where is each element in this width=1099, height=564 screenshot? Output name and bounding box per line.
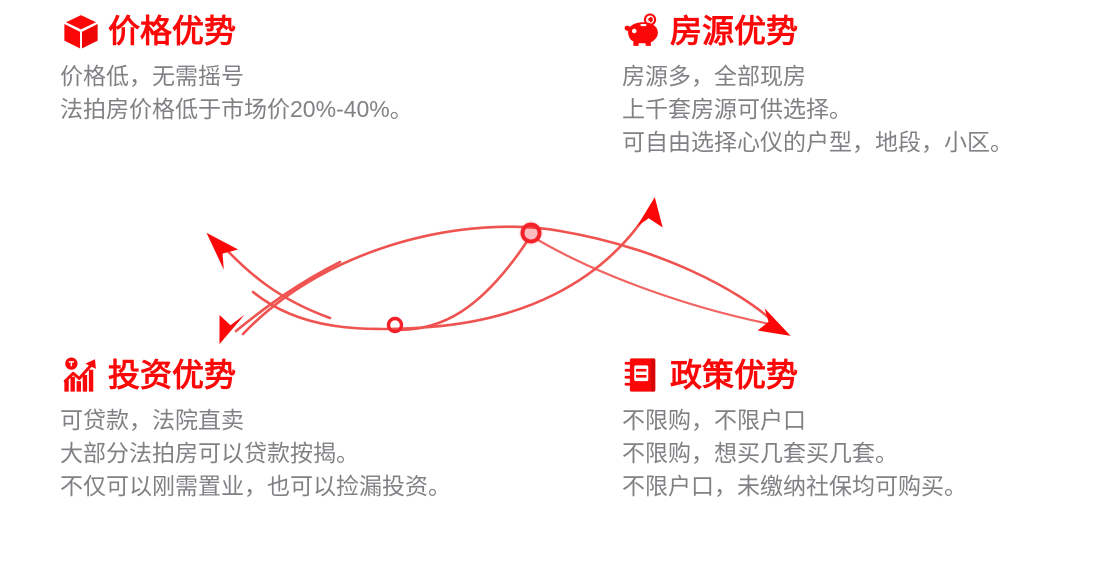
- arrow-tail-down-left: [236, 262, 340, 331]
- feature-header: 政策优势: [622, 352, 967, 398]
- feature-title: 价格优势: [108, 11, 236, 51]
- feature-line: 可自由选择心仪的户型，地段，小区。: [622, 126, 1013, 159]
- feature-title: 房源优势: [670, 11, 798, 51]
- node-halo: [518, 220, 544, 246]
- feature-line: 上千套房源可供选择。: [622, 93, 1013, 126]
- feature-line: 不限户口，未缴纳社保均可购买。: [622, 470, 967, 503]
- feature-line: 不限购，不限户口: [622, 404, 967, 437]
- arc-lower-sweep: [253, 212, 648, 329]
- feature-header: 投资优势: [60, 352, 451, 398]
- feature-header: 价格优势: [60, 8, 413, 54]
- piggy-bank-icon: [622, 10, 664, 52]
- feature-line: 房源多，全部现房: [622, 60, 1013, 93]
- feature-line-list: 不限购，不限户口 不限购，想买几套买几套。 不限户口，未缴纳社保均可购买。: [622, 404, 967, 503]
- node-ring-small: [389, 319, 402, 332]
- feature-line: 价格低，无需摇号: [60, 60, 413, 93]
- feature-title: 政策优势: [670, 355, 798, 395]
- arc-inner-rise: [398, 240, 528, 330]
- feature-line-list: 房源多，全部现房 上千套房源可供选择。 可自由选择心仪的户型，地段，小区。: [622, 60, 1013, 159]
- infographic-canvas: 价格优势 价格低，无需摇号 法拍房价格低于市场价20%-40%。 房源优势: [0, 0, 1099, 564]
- arc-upper-sweep: [243, 227, 776, 334]
- feature-line: 不限购，想买几套买几套。: [622, 437, 967, 470]
- arrowhead-up-left: [206, 229, 240, 272]
- cube-box-icon: [60, 10, 102, 52]
- feature-block-listings: 房源优势 房源多，全部现房 上千套房源可供选择。 可自由选择心仪的户型，地段，小…: [622, 8, 1013, 159]
- arrowhead-up-right: [637, 195, 670, 234]
- arc-node-to-right: [538, 240, 770, 324]
- node-ring-large: [523, 225, 540, 242]
- feature-block-investment: 投资优势 可贷款，法院直卖 大部分法拍房可以贷款按揭。 不仅可以刚需置业，也可以…: [60, 352, 451, 503]
- arrowhead-down-right: [755, 305, 791, 340]
- feature-line: 不仅可以刚需置业，也可以捡漏投资。: [60, 470, 451, 503]
- feature-line: 大部分法拍房可以贷款按揭。: [60, 437, 451, 470]
- feature-title: 投资优势: [108, 355, 236, 395]
- feature-block-policy: 政策优势 不限购，不限户口 不限购，想买几套买几套。 不限户口，未缴纳社保均可购…: [622, 352, 967, 503]
- arrow-tail-up-left: [222, 245, 330, 318]
- arrowhead-down-left: [216, 312, 244, 346]
- feature-header: 房源优势: [622, 8, 1013, 54]
- feature-line: 法拍房价格低于市场价20%-40%。: [60, 93, 413, 126]
- growth-chart-icon: [60, 354, 102, 396]
- notebook-icon: [622, 354, 664, 396]
- feature-block-price: 价格优势 价格低，无需摇号 法拍房价格低于市场价20%-40%。: [60, 8, 413, 126]
- feature-line-list: 可贷款，法院直卖 大部分法拍房可以贷款按揭。 不仅可以刚需置业，也可以捡漏投资。: [60, 404, 451, 503]
- feature-line-list: 价格低，无需摇号 法拍房价格低于市场价20%-40%。: [60, 60, 413, 126]
- feature-line: 可贷款，法院直卖: [60, 404, 451, 437]
